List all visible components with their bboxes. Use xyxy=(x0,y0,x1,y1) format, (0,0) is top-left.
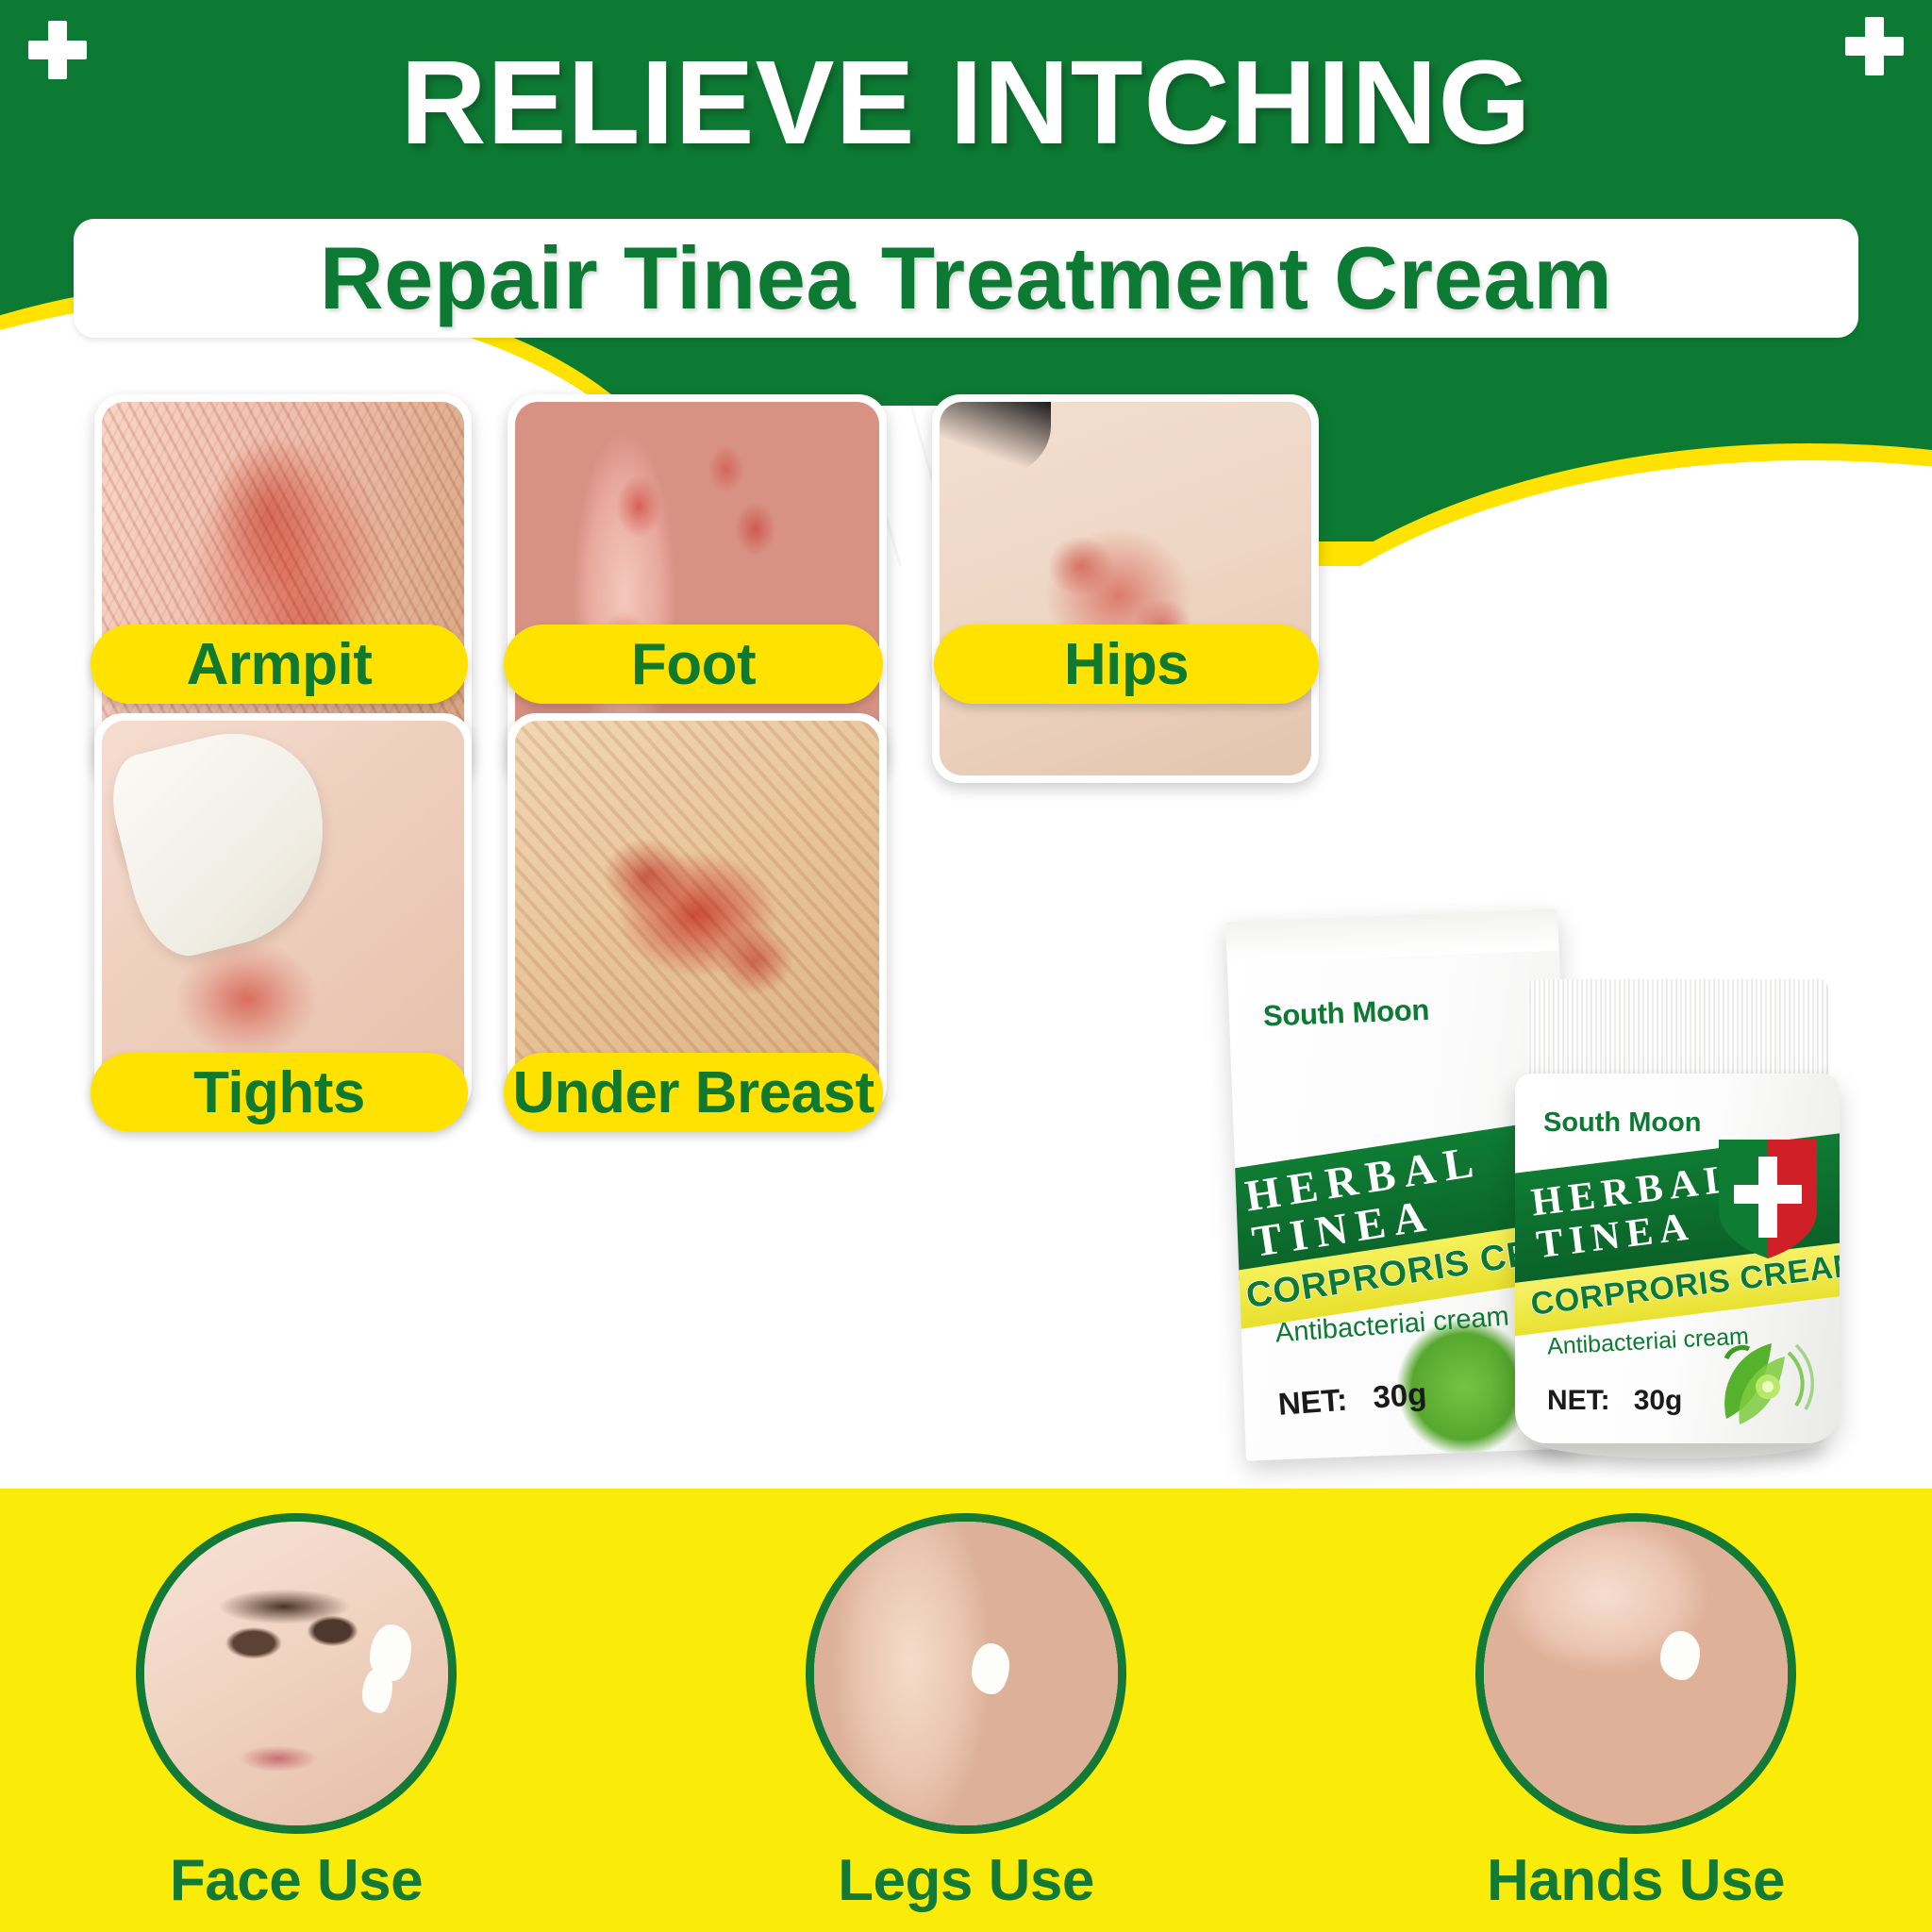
page-subtitle: Repair Tinea Treatment Cream xyxy=(320,227,1613,329)
area-label-text: Tights xyxy=(193,1059,365,1126)
shield-cross-icon xyxy=(1715,1136,1821,1260)
jar-product-name: HERBAL TINEA xyxy=(1529,1158,1745,1268)
box-net-value: 30g xyxy=(1372,1375,1427,1414)
applying-cream-to-hand-photo xyxy=(1484,1522,1788,1825)
under-breast-rash-photo xyxy=(515,721,879,1108)
area-label-text: Foot xyxy=(631,631,756,698)
jar-brand-name: South Moon xyxy=(1543,1108,1702,1139)
area-label-text: Armpit xyxy=(187,631,373,698)
usage-image-face xyxy=(136,1513,457,1834)
usage-label-legs: Legs Use xyxy=(768,1847,1164,1914)
product-packshot[interactable]: South Moon HERBAL TINEA CORPRORIS CREA A… xyxy=(1226,906,1887,1472)
area-label-text: Hips xyxy=(1064,631,1189,698)
box-top-flap xyxy=(1225,908,1558,962)
thighs-rash-photo xyxy=(102,721,464,1108)
area-card-hips[interactable] xyxy=(932,394,1319,783)
woman-applying-cream-to-face-photo xyxy=(144,1522,448,1825)
area-label-hips: Hips xyxy=(934,625,1319,704)
jar-net-weight: NET: 30g xyxy=(1547,1385,1682,1417)
usage-item-legs[interactable]: Legs Use xyxy=(768,1513,1164,1914)
usage-label-face: Face Use xyxy=(98,1847,494,1914)
usage-item-hands[interactable]: Hands Use xyxy=(1438,1513,1834,1914)
box-net-label: NET: xyxy=(1277,1382,1349,1422)
applying-cream-to-leg-photo xyxy=(814,1522,1118,1825)
usage-banner: Face Use Legs Use Hands Use xyxy=(0,1489,1932,1932)
product-advertisement-poster: RELIEVE INTCHING Repair Tinea Treatment … xyxy=(0,0,1932,1932)
usage-image-legs xyxy=(806,1513,1126,1834)
hips-rash-photo xyxy=(940,402,1311,775)
usage-label-hands: Hands Use xyxy=(1438,1847,1834,1914)
area-label-foot: Foot xyxy=(504,625,883,704)
usage-item-face[interactable]: Face Use xyxy=(98,1513,494,1914)
jar-net-value: 30g xyxy=(1634,1385,1683,1416)
area-label-text: Under Breast xyxy=(512,1059,874,1126)
page-title: RELIEVE INTCHING xyxy=(0,43,1932,162)
jar-net-label: NET: xyxy=(1547,1385,1610,1416)
jar-body: South Moon HERBAL TINEA xyxy=(1515,1074,1840,1443)
usage-image-hands xyxy=(1475,1513,1796,1834)
subtitle-box: Repair Tinea Treatment Cream xyxy=(74,219,1858,338)
jar-cap xyxy=(1526,979,1828,1083)
area-label-tights: Tights xyxy=(91,1053,468,1132)
area-label-armpit: Armpit xyxy=(91,625,468,704)
box-brand-name: South Moon xyxy=(1262,993,1429,1034)
product-jar: South Moon HERBAL TINEA xyxy=(1509,979,1845,1443)
area-label-under-breast: Under Breast xyxy=(504,1053,883,1132)
